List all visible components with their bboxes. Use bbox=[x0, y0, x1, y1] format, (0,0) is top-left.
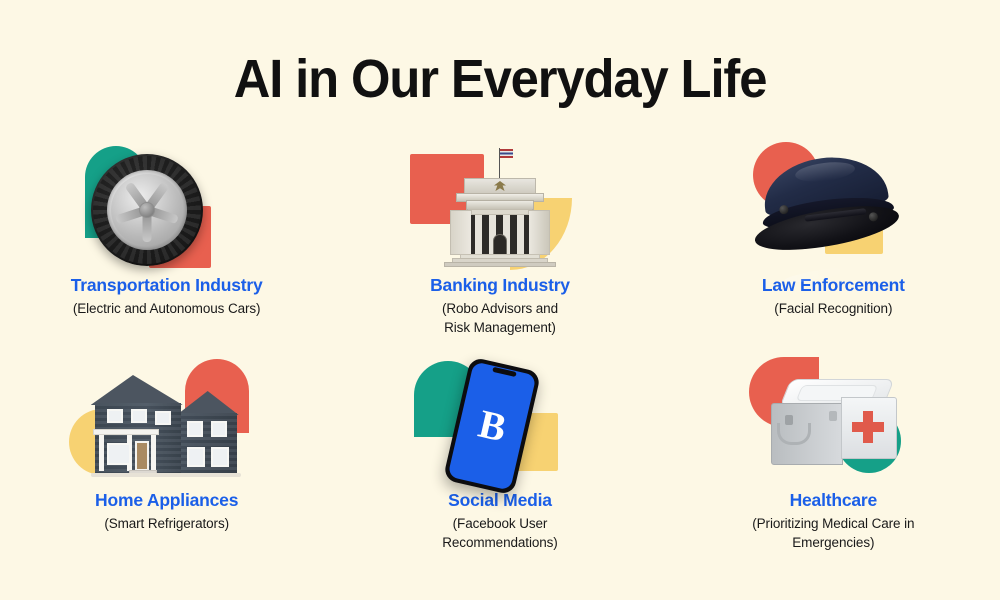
item-subtitle: (Smart Refrigerators) bbox=[37, 514, 297, 533]
item-heading: Law Enforcement bbox=[703, 275, 963, 295]
social-media-labels: Social Media (Facebook User Recommendati… bbox=[370, 490, 630, 552]
healthcare-illustration bbox=[733, 355, 933, 490]
item-subtitle-line-1: (Robo Advisors and bbox=[370, 299, 630, 318]
social-media-illustration: B bbox=[400, 355, 600, 490]
facebook-glyph: B bbox=[475, 404, 509, 449]
item-home-appliances: Home Appliances (Smart Refrigerators) bbox=[0, 355, 333, 570]
home-appliances-illustration bbox=[67, 355, 267, 490]
item-subtitle-line-2: Risk Management) bbox=[370, 318, 630, 337]
house-icon bbox=[85, 369, 245, 481]
item-subtitle: (Prioritizing Medical Care in Emergencie… bbox=[703, 514, 963, 552]
transportation-labels: Transportation Industry (Electric and Au… bbox=[37, 275, 297, 318]
bank-building-icon bbox=[442, 148, 558, 270]
item-heading: Healthcare bbox=[703, 490, 963, 510]
healthcare-labels: Healthcare (Prioritizing Medical Care in… bbox=[703, 490, 963, 552]
item-law-enforcement: Law Enforcement (Facial Recognition) bbox=[667, 140, 1000, 355]
police-cap-icon bbox=[746, 149, 906, 259]
item-banking: Banking Industry (Robo Advisors and Risk… bbox=[333, 140, 666, 355]
transportation-illustration bbox=[67, 140, 267, 275]
item-healthcare: Healthcare (Prioritizing Medical Care in… bbox=[667, 355, 1000, 570]
item-heading: Banking Industry bbox=[370, 275, 630, 295]
page-title: AI in Our Everyday Life bbox=[30, 48, 970, 110]
item-subtitle-line-2: Emergencies) bbox=[703, 533, 963, 552]
item-heading: Home Appliances bbox=[37, 490, 297, 510]
law-enforcement-labels: Law Enforcement (Facial Recognition) bbox=[703, 275, 963, 318]
item-heading: Social Media bbox=[370, 490, 630, 510]
item-subtitle-line-1: (Prioritizing Medical Care in bbox=[703, 514, 963, 533]
banking-illustration bbox=[400, 140, 600, 275]
item-subtitle: (Electric and Autonomous Cars) bbox=[37, 299, 297, 318]
item-heading: Transportation Industry bbox=[37, 275, 297, 295]
first-aid-kit-icon bbox=[763, 379, 903, 477]
car-tire-icon bbox=[91, 154, 203, 266]
items-grid: Transportation Industry (Electric and Au… bbox=[0, 140, 1000, 590]
item-subtitle-line-1: (Facebook User bbox=[370, 514, 630, 533]
home-appliances-labels: Home Appliances (Smart Refrigerators) bbox=[37, 490, 297, 533]
item-subtitle-line-2: Recommendations) bbox=[370, 533, 630, 552]
law-enforcement-illustration bbox=[733, 140, 933, 275]
item-subtitle: (Facebook User Recommendations) bbox=[370, 514, 630, 552]
item-social-media: B Social Media (Facebook User Recommenda… bbox=[333, 355, 666, 570]
item-subtitle: (Facial Recognition) bbox=[703, 299, 963, 318]
item-subtitle: (Robo Advisors and Risk Management) bbox=[370, 299, 630, 337]
banking-labels: Banking Industry (Robo Advisors and Risk… bbox=[370, 275, 630, 337]
item-transportation: Transportation Industry (Electric and Au… bbox=[0, 140, 333, 355]
infographic-page: AI in Our Everyday Life bbox=[0, 0, 1000, 600]
